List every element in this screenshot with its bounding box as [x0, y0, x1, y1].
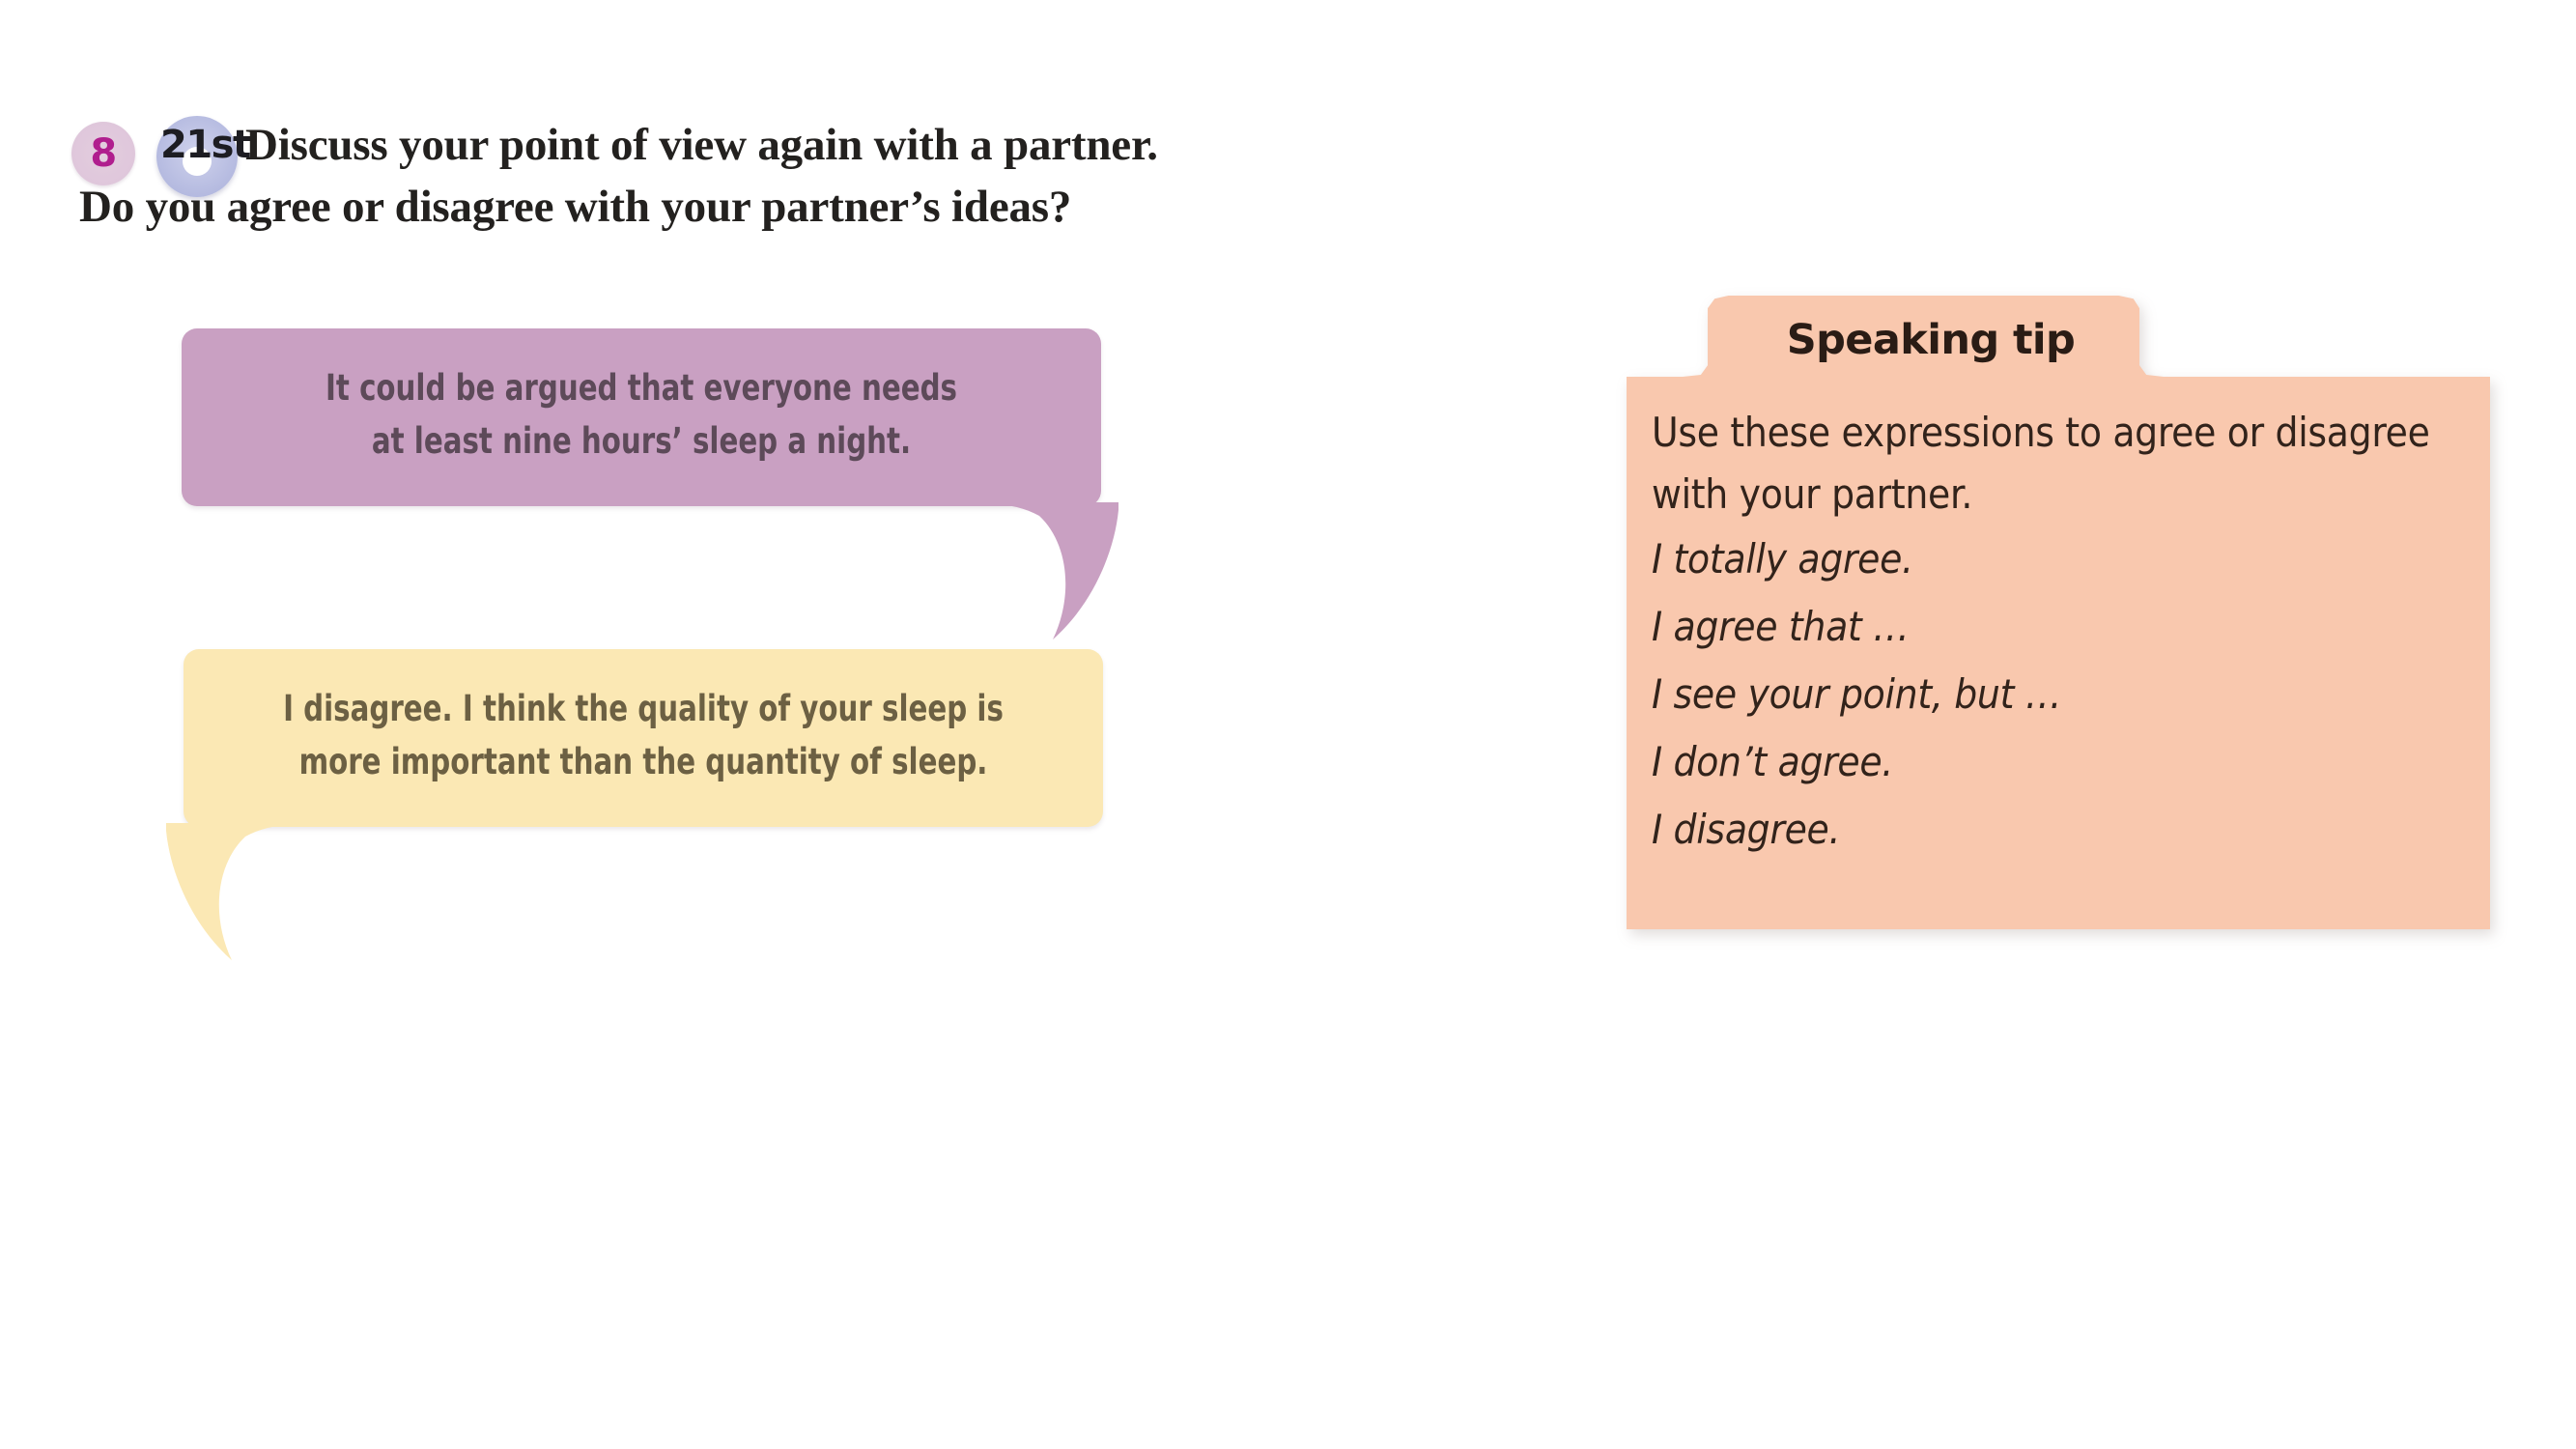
speech-bubble-purple-body: It could be argued that everyone needs a…	[182, 328, 1101, 506]
speech-bubble-yellow-text: I disagree. I think the quality of your …	[272, 682, 1013, 788]
instruction-line-1: Discuss your point of view again with a …	[245, 120, 1158, 170]
list-item: I don’t agree.	[1652, 728, 2463, 796]
speech-bubble-purple: It could be argued that everyone needs a…	[182, 328, 1101, 506]
century-badge-label: 21st	[160, 126, 243, 164]
speech-bubble-yellow-tail-icon	[166, 823, 292, 963]
speech-bubble-yellow-body: I disagree. I think the quality of your …	[184, 649, 1103, 827]
list-item: I disagree.	[1652, 796, 2463, 864]
speech-bubble-purple-tail-icon	[993, 502, 1118, 642]
speech-bubble-purple-text: It could be argued that everyone needs a…	[270, 361, 1011, 468]
speaking-tip-panel: Speaking tip Use these expressions to ag…	[1627, 296, 2490, 929]
list-item: I see your point, but …	[1652, 661, 2463, 728]
speech-bubble-yellow: I disagree. I think the quality of your …	[184, 649, 1103, 827]
speaking-tip-intro-text: Use these expressions to agree or disagr…	[1652, 402, 2463, 526]
list-item: I agree that …	[1652, 593, 2463, 661]
speaking-tip-expression-list: I totally agree. I agree that … I see yo…	[1652, 526, 2463, 864]
list-item: I totally agree.	[1652, 526, 2463, 593]
speaking-tip-title: Speaking tip	[1723, 311, 2138, 369]
exercise-number-label: 8	[71, 134, 135, 173]
instruction-line-2: Do you agree or disagree with your partn…	[79, 176, 1713, 238]
exercise-instruction: Discuss your point of view again with a …	[245, 114, 1713, 238]
